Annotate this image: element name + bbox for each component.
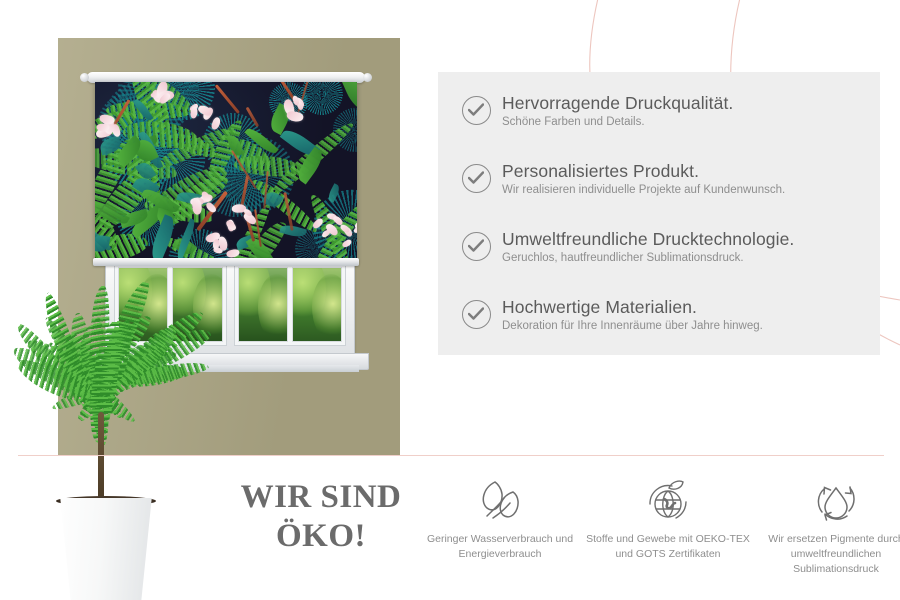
feature-title: Hochwertige Materialien. <box>502 298 763 317</box>
feature-title: Personalisiertes Produkt. <box>502 162 785 181</box>
potted-palm-plant <box>0 262 224 600</box>
eco-headline: WIR SIND ÖKO! <box>196 478 446 555</box>
feature-item: Hervorragende Druckqualität. Schöne Farb… <box>462 94 733 130</box>
globe-leaf-icon <box>584 472 752 528</box>
feature-subtitle: Dekoration für Ihre Innenräume über Jahr… <box>502 319 763 333</box>
eco-headline-line1: WIR SIND <box>196 478 446 517</box>
palm-trunk <box>98 412 104 504</box>
tropical-pattern <box>95 82 357 260</box>
check-circle-icon <box>462 300 491 329</box>
eco-caption: Geringer Wasserverbrauch und Energieverb… <box>416 532 584 562</box>
eco-item-water: Geringer Wasserverbrauch und Energieverb… <box>416 472 584 562</box>
feature-subtitle: Geruchlos, hautfreundlicher Sublimations… <box>502 251 794 265</box>
roller-blind[interactable] <box>95 72 357 268</box>
feature-item: Personalisiertes Produkt. Wir realisiere… <box>462 162 785 198</box>
water-drop-recycle-icon <box>752 472 900 528</box>
feature-item: Umweltfreundliche Drucktechnologie. Geru… <box>462 230 794 266</box>
leaves-icon <box>416 472 584 528</box>
eco-caption: Wir ersetzen Pigmente durch umweltfreund… <box>752 532 900 577</box>
blind-fabric-tropical-print <box>95 82 357 260</box>
promo-banner: Hervorragende Druckqualität. Schöne Farb… <box>0 0 900 600</box>
eco-caption: Stoffe und Gewebe mit OEKO-TEX und GOTS … <box>584 532 752 562</box>
check-circle-icon <box>462 96 491 125</box>
blind-end-cap-right <box>363 73 372 82</box>
feature-item: Hochwertige Materialien. Dekoration für … <box>462 298 763 334</box>
eco-item-pigments: Wir ersetzen Pigmente durch umweltfreund… <box>752 472 900 577</box>
plant-pot <box>54 498 158 600</box>
features-panel: Hervorragende Druckqualität. Schöne Farb… <box>438 72 880 355</box>
check-circle-icon <box>462 164 491 193</box>
feature-subtitle: Schöne Farben und Details. <box>502 115 733 129</box>
check-circle-icon <box>462 232 491 261</box>
feature-title: Umweltfreundliche Drucktechnologie. <box>502 230 794 249</box>
blind-end-cap-left <box>80 73 89 82</box>
section-divider <box>18 455 884 456</box>
feature-title: Hervorragende Druckqualität. <box>502 94 733 113</box>
window-pane <box>292 267 342 342</box>
eco-headline-line2: ÖKO! <box>196 517 446 556</box>
feature-subtitle: Wir realisieren individuelle Projekte au… <box>502 183 785 197</box>
window-pane <box>238 267 288 342</box>
eco-item-certificates: Stoffe und Gewebe mit OEKO-TEX und GOTS … <box>584 472 752 562</box>
window-sash-right <box>234 263 347 346</box>
